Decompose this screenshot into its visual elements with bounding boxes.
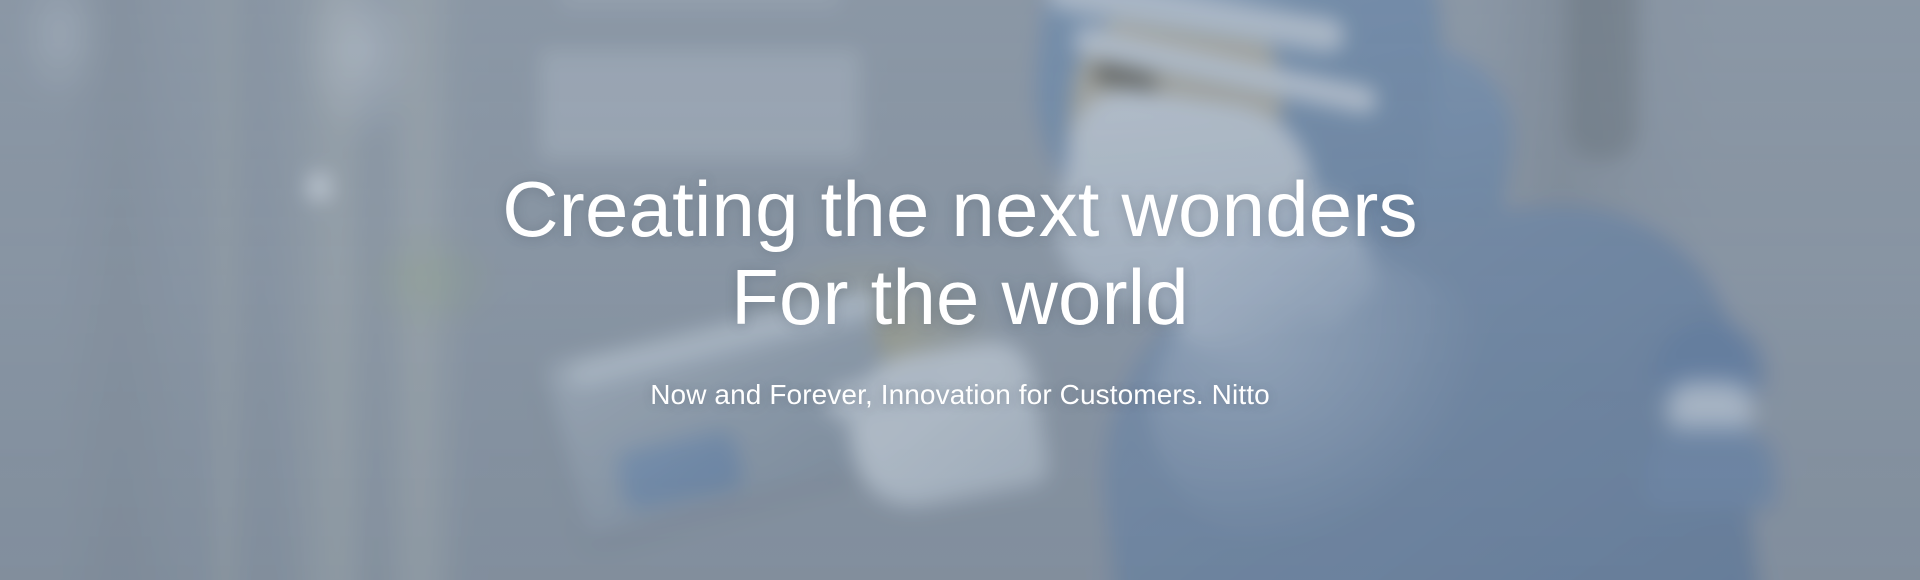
hero-banner: Creating the next wonders For the world … [0, 0, 1920, 580]
hero-subheadline: Now and Forever, Innovation for Customer… [650, 377, 1270, 413]
hero-copy: Creating the next wonders For the world … [0, 0, 1920, 580]
hero-headline-line-1: Creating the next wonders [502, 166, 1418, 253]
hero-headline-line-2: For the world [502, 254, 1418, 341]
hero-headline: Creating the next wonders For the world [502, 166, 1418, 341]
